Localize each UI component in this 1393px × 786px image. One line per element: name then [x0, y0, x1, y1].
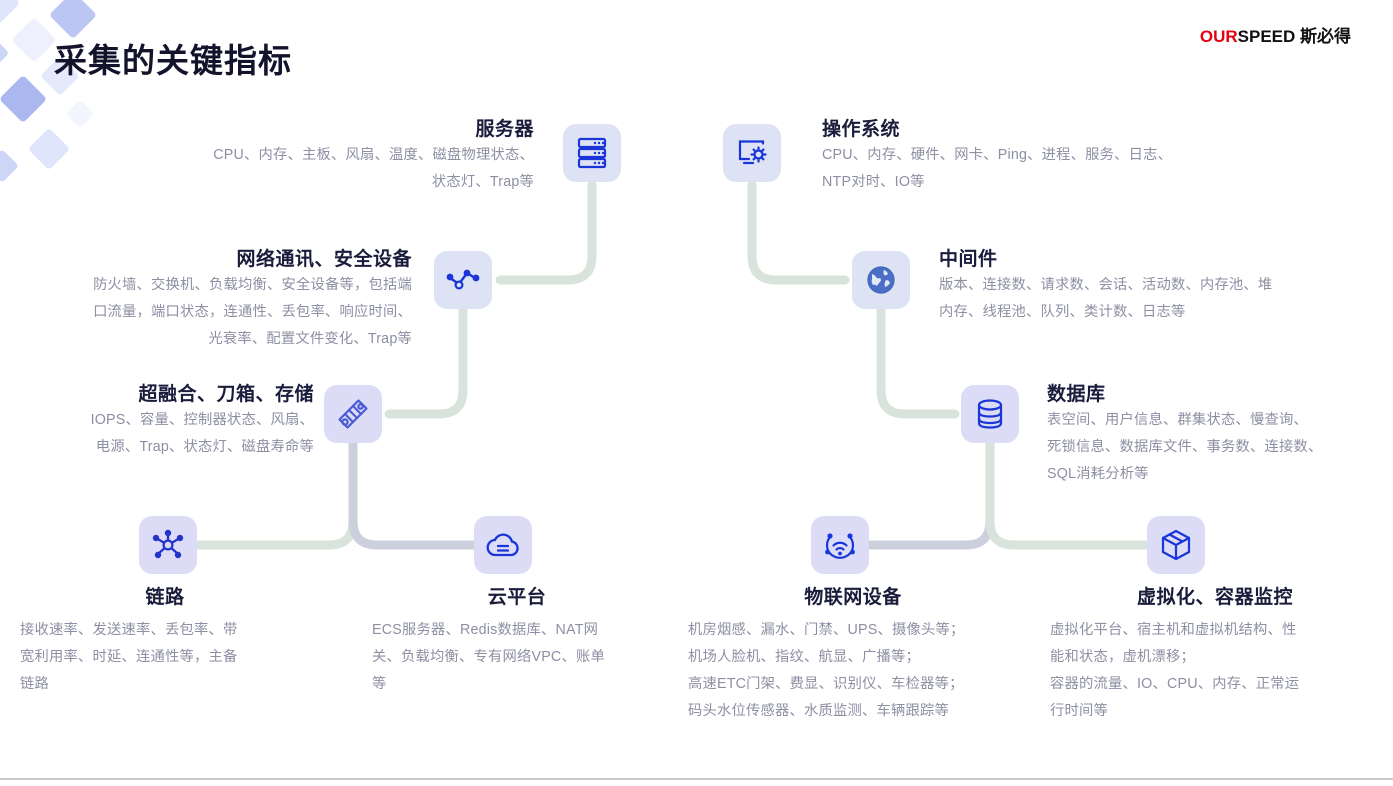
node-title-link: 链路 [20, 586, 310, 610]
node-body-line: 版本、连接数、请求数、会话、活动数、内存池、堆 [939, 272, 1369, 299]
network-nodes-icon [446, 265, 480, 295]
node-title-middleware: 中间件 [939, 248, 1369, 272]
node-body-line: 表空间、用户信息、群集状态、慢查询、 [1047, 407, 1377, 434]
wire-storage-to-cloud [353, 444, 474, 545]
node-title-iot: 物联网设备 [688, 586, 1018, 610]
node-text-os: 操作系统 CPU、内存、硬件、网卡、Ping、进程、服务、日志、 NTP对时、I… [822, 118, 1252, 196]
node-body-line: 机场人脸机、指纹、航显、广播等； [688, 644, 1018, 671]
wire-database-to-iot [869, 444, 990, 545]
node-icon-link[interactable] [139, 516, 197, 574]
database-cylinder-icon [975, 398, 1005, 430]
node-body-line: 容器的流量、IO、CPU、内存、正常运 [1050, 671, 1380, 698]
node-title-virtualization: 虚拟化、容器监控 [1050, 586, 1380, 610]
node-text-cloud: 云平台 ECS服务器、Redis数据库、NAT网 关、负载均衡、专有网络VPC、… [372, 586, 662, 698]
cloud-icon [486, 530, 520, 560]
infographic-slide: 采集的关键指标 OURSPEED 斯必得 [0, 0, 1393, 786]
node-title-storage: 超融合、刀箱、存储 [22, 383, 314, 407]
node-title-os: 操作系统 [822, 118, 1252, 142]
node-text-middleware: 中间件 版本、连接数、请求数、会话、活动数、内存池、堆 内存、线程池、队列、类计… [939, 248, 1369, 326]
node-body-line: 能和状态，虚机漂移； [1050, 644, 1380, 671]
node-body-iot: 机房烟感、漏水、门禁、UPS、摄像头等； 机场人脸机、指纹、航显、广播等； 高速… [688, 617, 1018, 725]
node-text-iot: 物联网设备 机房烟感、漏水、门禁、UPS、摄像头等； 机场人脸机、指纹、航显、广… [688, 586, 1018, 725]
node-body-link: 接收速率、发送速率、丢包率、带 宽利用率、时延、连通性等，主备 链路 [20, 617, 310, 698]
node-body-line: 虚拟化平台、宿主机和虚拟机结构、性 [1050, 617, 1380, 644]
iot-wifi-icon [823, 528, 857, 562]
globe-icon [865, 264, 897, 296]
node-body-virtualization: 虚拟化平台、宿主机和虚拟机结构、性 能和状态，虚机漂移； 容器的流量、IO、CP… [1050, 617, 1380, 725]
node-text-database: 数据库 表空间、用户信息、群集状态、慢查询、 死锁信息、数据库文件、事务数、连接… [1047, 383, 1377, 488]
node-icon-virtualization[interactable] [1147, 516, 1205, 574]
node-body-line: 等 [372, 671, 662, 698]
node-icon-os[interactable] [723, 124, 781, 182]
node-icon-network[interactable] [434, 251, 492, 309]
node-body-database: 表空间、用户信息、群集状态、慢查询、 死锁信息、数据库文件、事务数、连接数、 S… [1047, 407, 1377, 488]
cube-box-icon [1159, 528, 1193, 562]
node-body-network: 防火墙、交换机、负载均衡、安全设备等，包括端 口流量，端口状态，连通性、丢包率、… [22, 272, 412, 353]
node-body-line: 行时间等 [1050, 698, 1380, 725]
node-body-line: 口流量，端口状态，连通性、丢包率、响应时间、 [22, 299, 412, 326]
node-title-server: 服务器 [140, 118, 534, 142]
node-icon-server[interactable] [563, 124, 621, 182]
node-body-line: 电源、Trap、状态灯、磁盘寿命等 [22, 434, 314, 461]
node-text-storage: 超融合、刀箱、存储 IOPS、容量、控制器状态、风扇、 电源、Trap、状态灯、… [22, 383, 314, 461]
node-body-line: 链路 [20, 671, 310, 698]
node-icon-middleware[interactable] [852, 251, 910, 309]
node-body-line: 码头水位传感器、水质监测、车辆跟踪等 [688, 698, 1018, 725]
node-body-line: 接收速率、发送速率、丢包率、带 [20, 617, 310, 644]
node-icon-database[interactable] [961, 385, 1019, 443]
monitor-gear-icon [736, 137, 768, 169]
node-text-network: 网络通讯、安全设备 防火墙、交换机、负载均衡、安全设备等，包括端 口流量，端口状… [22, 248, 412, 353]
node-body-line: 死锁信息、数据库文件、事务数、连接数、 [1047, 434, 1377, 461]
node-icon-cloud[interactable] [474, 516, 532, 574]
node-body-os: CPU、内存、硬件、网卡、Ping、进程、服务、日志、 NTP对时、IO等 [822, 142, 1252, 196]
node-body-line: SQL消耗分析等 [1047, 461, 1377, 488]
node-title-network: 网络通讯、安全设备 [22, 248, 412, 272]
wire-os-to-middleware [752, 185, 845, 280]
node-body-line: NTP对时、IO等 [822, 169, 1252, 196]
footer-divider [0, 778, 1393, 780]
node-body-line: CPU、内存、主板、风扇、温度、磁盘物理状态、 [140, 142, 534, 169]
node-text-virtualization: 虚拟化、容器监控 虚拟化平台、宿主机和虚拟机结构、性 能和状态，虚机漂移； 容器… [1050, 586, 1380, 725]
node-icon-storage[interactable] [324, 385, 382, 443]
node-body-line: 内存、线程池、队列、类计数、日志等 [939, 299, 1369, 326]
node-text-server: 服务器 CPU、内存、主板、风扇、温度、磁盘物理状态、 状态灯、Trap等 [140, 118, 534, 196]
node-body-line: 高速ETC门架、费显、识别仪、车检器等； [688, 671, 1018, 698]
node-body-server: CPU、内存、主板、风扇、温度、磁盘物理状态、 状态灯、Trap等 [140, 142, 534, 196]
node-title-database: 数据库 [1047, 383, 1377, 407]
node-body-cloud: ECS服务器、Redis数据库、NAT网 关、负载均衡、专有网络VPC、账单 等 [372, 617, 662, 698]
node-body-line: ECS服务器、Redis数据库、NAT网 [372, 617, 662, 644]
network-hub-icon [151, 528, 185, 562]
node-body-line: 状态灯、Trap等 [140, 169, 534, 196]
node-text-link: 链路 接收速率、发送速率、丢包率、带 宽利用率、时延、连通性等，主备 链路 [20, 586, 310, 698]
node-title-cloud: 云平台 [372, 586, 662, 610]
server-rack-icon [577, 137, 607, 169]
node-icon-iot[interactable] [811, 516, 869, 574]
node-body-line: IOPS、容量、控制器状态、风扇、 [22, 407, 314, 434]
node-body-line: 光衰率、配置文件变化、Trap等 [22, 326, 412, 353]
node-body-storage: IOPS、容量、控制器状态、风扇、 电源、Trap、状态灯、磁盘寿命等 [22, 407, 314, 461]
wire-server-to-network [500, 185, 592, 280]
node-body-line: 关、负载均衡、专有网络VPC、账单 [372, 644, 662, 671]
node-body-line: CPU、内存、硬件、网卡、Ping、进程、服务、日志、 [822, 142, 1252, 169]
node-body-middleware: 版本、连接数、请求数、会话、活动数、内存池、堆 内存、线程池、队列、类计数、日志… [939, 272, 1369, 326]
node-body-line: 机房烟感、漏水、门禁、UPS、摄像头等； [688, 617, 1018, 644]
stacked-disks-icon [336, 397, 370, 431]
node-body-line: 防火墙、交换机、负载均衡、安全设备等，包括端 [22, 272, 412, 299]
node-body-line: 宽利用率、时延、连通性等，主备 [20, 644, 310, 671]
